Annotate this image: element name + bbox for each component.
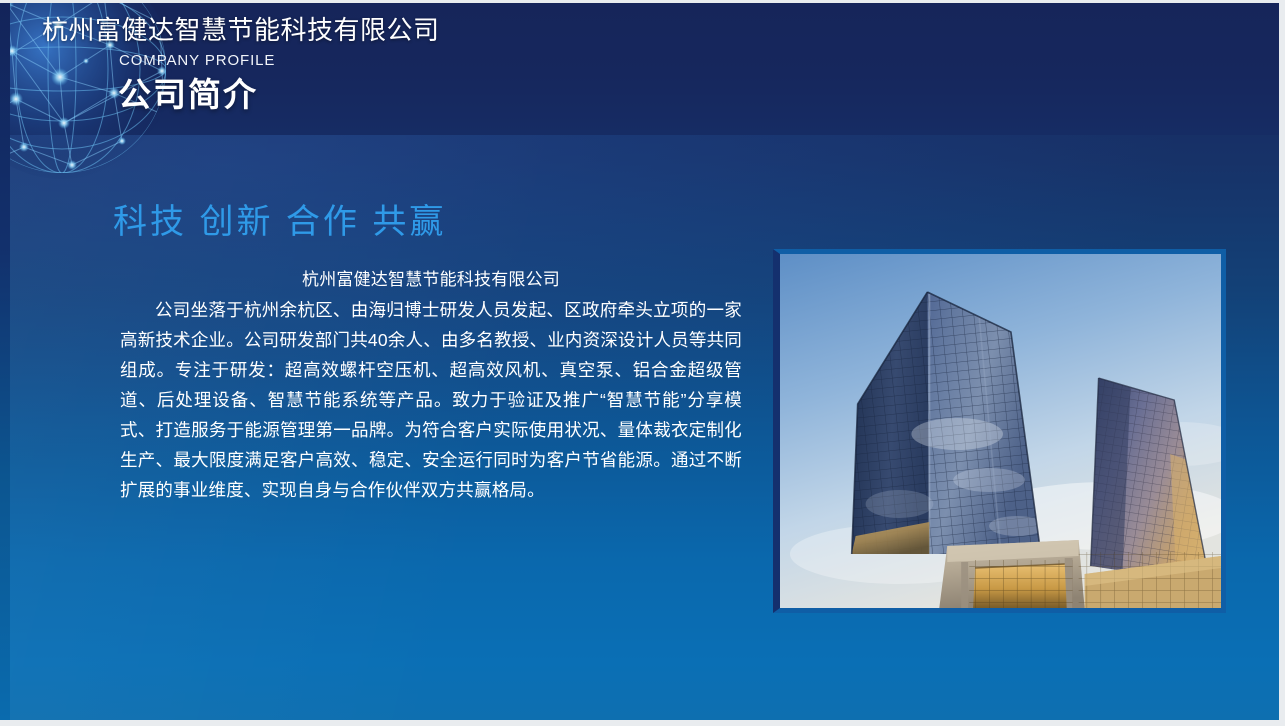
description-company-name: 杭州富健达智慧节能科技有限公司 — [120, 265, 742, 295]
tagline: 科技 创新 合作 共赢 — [113, 199, 446, 245]
page-bottom-margin — [0, 720, 1285, 726]
header-company-name: 杭州富健达智慧节能科技有限公司 — [42, 15, 440, 45]
slide-canvas: 杭州富健达智慧节能科技有限公司 COMPANY PROFILE 公司简介 科技 … — [0, 3, 1279, 720]
header-subtitle-english: COMPANY PROFILE — [119, 52, 275, 70]
slide-header-band: 杭州富健达智慧节能科技有限公司 COMPANY PROFILE 公司简介 — [0, 3, 1279, 135]
company-description-block: 杭州富健达智慧节能科技有限公司 公司坐落于杭州余杭区、由海归博士研发人员发起、区… — [120, 265, 742, 505]
office-towers-photo — [773, 249, 1226, 613]
left-accent-strip — [0, 3, 10, 720]
page-title: 公司简介 — [118, 74, 258, 116]
description-paragraph: 公司坐落于杭州余杭区、由海归博士研发人员发起、区政府牵头立项的一家高新技术企业。… — [120, 295, 742, 505]
page-right-margin — [1279, 0, 1285, 726]
